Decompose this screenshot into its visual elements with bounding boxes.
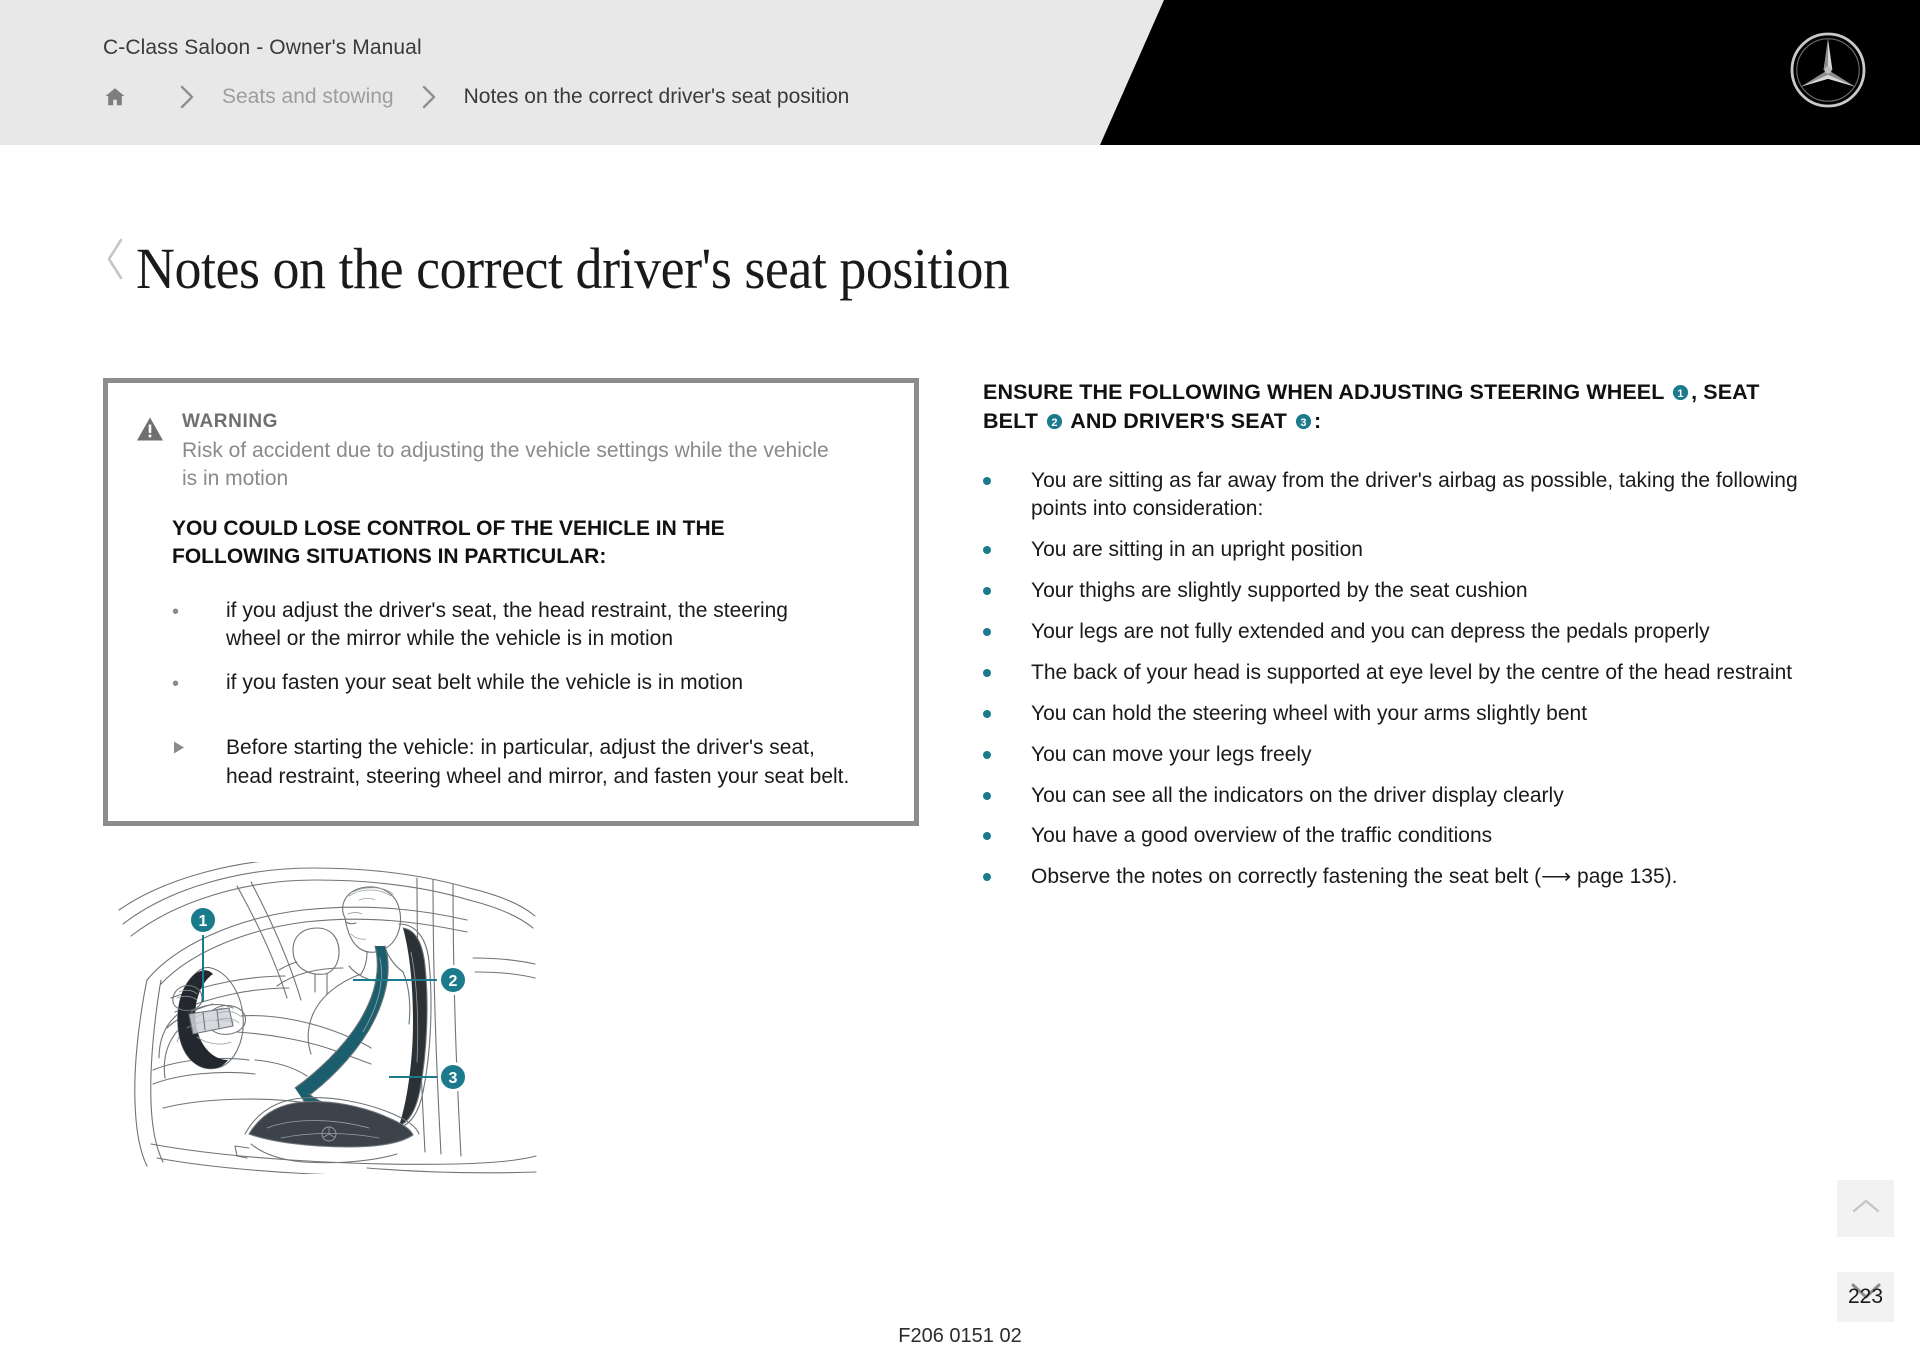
- list-item-text: if you adjust the driver's seat, the hea…: [226, 597, 846, 654]
- warning-emphasis: YOU COULD LOSE CONTROL OF THE VEHICLE IN…: [172, 515, 832, 571]
- home-icon[interactable]: [100, 82, 130, 112]
- list-item: You can see all the indicators on the dr…: [983, 782, 1813, 810]
- scroll-to-top-button[interactable]: [1837, 1180, 1894, 1237]
- warning-header: WARNING Risk of accident due to adjustin…: [136, 411, 884, 493]
- svg-text:1: 1: [1678, 388, 1684, 400]
- svg-text:3: 3: [449, 1070, 458, 1087]
- list-item-text[interactable]: Observe the notes on correctly fastening…: [1031, 863, 1677, 891]
- page-indicator[interactable]: 223: [1837, 1272, 1894, 1322]
- svg-text:3: 3: [1300, 417, 1306, 429]
- bullet-dot-icon: [983, 822, 1031, 840]
- mercedes-benz-star-logo: [1788, 30, 1868, 110]
- svg-text:1: 1: [199, 913, 208, 930]
- bullet-glyph: •: [172, 597, 226, 626]
- list-item-text: You have a good overview of the traffic …: [1031, 822, 1492, 850]
- warning-triangle-icon: [136, 416, 164, 447]
- chevron-right-icon: [416, 84, 442, 110]
- bullet-dot-icon: [983, 863, 1031, 881]
- chevron-up-icon: [1851, 1197, 1881, 1220]
- list-item-text: You are sitting as far away from the dri…: [1031, 467, 1811, 523]
- left-column: WARNING Risk of accident due to adjustin…: [103, 378, 919, 1174]
- bullet-dot-icon: [983, 467, 1031, 485]
- breadcrumb-item-seats-and-stowing[interactable]: Seats and stowing: [222, 85, 394, 109]
- list-item: • if you fasten your seat belt while the…: [172, 669, 884, 698]
- bullet-glyph: •: [172, 669, 226, 698]
- list-item: You can hold the steering wheel with you…: [983, 700, 1813, 728]
- list-item: Observe the notes on correctly fastening…: [983, 863, 1813, 891]
- list-item-text: The back of your head is supported at ey…: [1031, 659, 1792, 687]
- bullet-dot-icon: [983, 659, 1031, 677]
- warning-subtitle: Risk of accident due to adjusting the ve…: [182, 437, 842, 493]
- right-column: ENSURE THE FOLLOWING WHEN ADJUSTING STEE…: [983, 378, 1813, 904]
- list-item-text: if you fasten your seat belt while the v…: [226, 669, 743, 697]
- list-item-text: You can see all the indicators on the dr…: [1031, 782, 1564, 810]
- chevron-right-icon: [174, 84, 200, 110]
- instructions-heading-part-1: ENSURE THE FOLLOWING WHEN ADJUSTING STEE…: [983, 380, 1670, 404]
- driver-seat-position-diagram: .ln { fill:none; stroke:#6f7478; stroke-…: [117, 862, 537, 1174]
- badge-2-icon: 2: [1045, 410, 1064, 429]
- callout-2: 2: [438, 965, 468, 995]
- manual-title: C-Class Saloon - Owner's Manual: [103, 36, 422, 60]
- svg-text:2: 2: [449, 973, 458, 990]
- breadcrumb: Seats and stowing Notes on the correct d…: [100, 78, 849, 116]
- page-title-row: Notes on the correct driver's seat posit…: [0, 196, 1920, 341]
- list-item: • if you adjust the driver's seat, the h…: [172, 597, 884, 654]
- list-item: You are sitting as far away from the dri…: [983, 467, 1813, 523]
- figure-caption: F206 0151 02: [0, 1325, 1920, 1348]
- list-item-text: Your legs are not fully extended and you…: [1031, 618, 1710, 646]
- chevron-left-icon[interactable]: [98, 234, 132, 284]
- page-number: 223: [1848, 1285, 1883, 1309]
- list-item-text: You can hold the steering wheel with you…: [1031, 700, 1587, 728]
- bullet-dot-icon: [983, 700, 1031, 718]
- svg-text:2: 2: [1051, 417, 1057, 429]
- instructions-heading: ENSURE THE FOLLOWING WHEN ADJUSTING STEE…: [983, 378, 1793, 435]
- list-item-text: You are sitting in an upright position: [1031, 536, 1363, 564]
- list-item: Your thighs are slightly supported by th…: [983, 577, 1813, 605]
- bullet-dot-icon: [983, 782, 1031, 800]
- warning-action-step: Before starting the vehicle: in particul…: [172, 734, 884, 791]
- instructions-heading-part-4: :: [1314, 409, 1321, 433]
- list-item: You have a good overview of the traffic …: [983, 822, 1813, 850]
- warning-label: WARNING: [182, 411, 884, 433]
- badge-1-icon: 1: [1671, 381, 1690, 400]
- app-header: C-Class Saloon - Owner's Manual Seats an…: [0, 0, 1920, 145]
- instructions-bullet-list: You are sitting as far away from the dri…: [983, 467, 1813, 891]
- warning-action-text: Before starting the vehicle: in particul…: [226, 734, 866, 791]
- page-title: Notes on the correct driver's seat posit…: [136, 235, 1010, 302]
- action-triangle-icon: [172, 734, 226, 760]
- warning-bullet-list: • if you adjust the driver's seat, the h…: [172, 597, 884, 699]
- list-item: You can move your legs freely: [983, 741, 1813, 769]
- list-item: You are sitting in an upright position: [983, 536, 1813, 564]
- bullet-dot-icon: [983, 618, 1031, 636]
- warning-callout-box: WARNING Risk of accident due to adjustin…: [103, 378, 919, 826]
- bullet-dot-icon: [983, 536, 1031, 554]
- breadcrumb-item-current: Notes on the correct driver's seat posit…: [464, 85, 850, 109]
- list-item-text: You can move your legs freely: [1031, 741, 1312, 769]
- callout-3: 3: [438, 1062, 468, 1092]
- list-item: The back of your head is supported at ey…: [983, 659, 1813, 687]
- instructions-heading-part-3: AND DRIVER'S SEAT: [1065, 409, 1293, 433]
- bullet-dot-icon: [983, 741, 1031, 759]
- list-item-text: Your thighs are slightly supported by th…: [1031, 577, 1528, 605]
- bullet-dot-icon: [983, 577, 1031, 595]
- list-item: Your legs are not fully extended and you…: [983, 618, 1813, 646]
- badge-3-icon: 3: [1294, 410, 1313, 429]
- callout-1: 1: [188, 905, 218, 935]
